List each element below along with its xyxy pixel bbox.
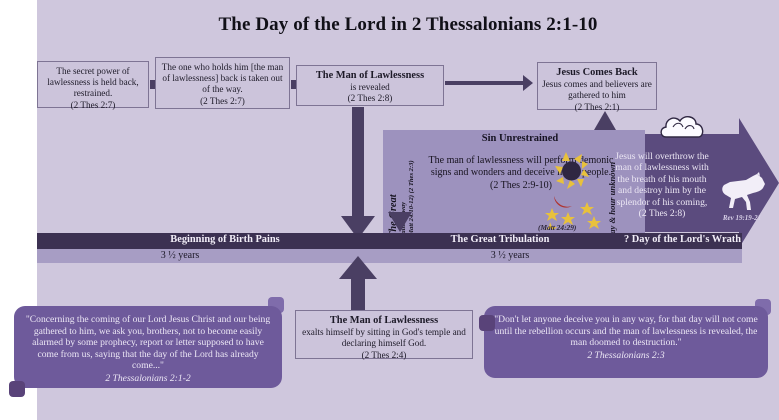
- timeline-duration-2: 3 ½ years: [430, 250, 590, 261]
- timeline-segment-day-of-lords-wrath: ? Day of the Lord's Wrath: [595, 234, 770, 245]
- celestial-ref: (Matt 24:29): [538, 223, 576, 232]
- flow-box-body: is revealed: [350, 82, 390, 92]
- quote-left: "Concerning the coming of our Lord Jesus…: [14, 306, 282, 388]
- quote-left-cite: 2 Thessalonians 2:1-2: [24, 373, 272, 385]
- arrow-right-icon-3: [445, 81, 524, 85]
- flow-box-ref: (2 Thes 2:7): [200, 96, 245, 106]
- arrow-down-icon-to-timeline: [352, 107, 364, 217]
- ribbon-curl-right-bottom: [479, 315, 495, 331]
- flow-box-jesus-comes-back: Jesus Comes Back Jesus comes and believe…: [537, 62, 657, 110]
- sin-body-ref: (2 Thes 2:9-10): [490, 180, 552, 191]
- quote-left-text: "Concerning the coming of our Lord Jesus…: [26, 314, 270, 371]
- celestial-signs-icons: [544, 150, 606, 230]
- flow-box-ref: (2 Thes 2:8): [348, 93, 393, 103]
- flow-box-title: Jesus Comes Back: [542, 67, 652, 78]
- ribbon-curl-left-bottom: [9, 381, 25, 397]
- right-panel-body: Jesus will overthrow the man of lawlessn…: [610, 151, 714, 219]
- bottom-box-body: exalts himself by sitting in God's templ…: [302, 327, 466, 348]
- flow-box-man-of-lawlessness-revealed: The Man of Lawlessness is revealed (2 Th…: [296, 65, 444, 106]
- quote-right-cite: 2 Thessalonians 2:3: [494, 350, 758, 362]
- white-horse-icon: [716, 172, 768, 216]
- flow-box-body: The one who holds him [the man of lawles…: [162, 62, 283, 94]
- flow-box-body: Jesus comes and believers are gathered t…: [542, 79, 652, 100]
- cloud-icon: [659, 113, 707, 141]
- quote-right-text: "Don't let anyone deceive you in any way…: [494, 314, 757, 348]
- sun-icon: [555, 152, 589, 189]
- horse-ref: Rev 19:19-21: [711, 214, 773, 222]
- arrow-up-icon-from-bottom-box: [351, 278, 365, 312]
- moon-icon: [554, 196, 572, 208]
- right-panel-ref: (2 Thes 2:8): [639, 208, 686, 219]
- flow-box-restrainer-removed: The one who holds him [the man of lawles…: [155, 57, 290, 109]
- flow-box-body: The secret power of lawlessness is held …: [47, 66, 138, 98]
- bottom-box-title: The Man of Lawlessness: [300, 315, 468, 326]
- quote-right: "Don't let anyone deceive you in any way…: [484, 306, 768, 378]
- triangle-down-icon-falling-away: [388, 212, 412, 232]
- right-panel-text: Jesus will overthrow the man of lawlessn…: [615, 151, 709, 208]
- sin-unrestrained-heading: Sin Unrestrained: [420, 133, 620, 144]
- flow-box-secret-power: The secret power of lawlessness is held …: [37, 61, 149, 108]
- timeline-segment-birth-pains: Beginning of Birth Pains: [90, 234, 360, 245]
- flow-box-title: The Man of Lawlessness: [301, 70, 439, 81]
- page-title: The Day of the Lord in 2 Thessalonians 2…: [37, 14, 779, 36]
- timeline-duration-1: 3 ½ years: [100, 250, 260, 261]
- bottom-box-ref: (2 Thes 2:4): [362, 350, 407, 360]
- bottom-box-man-of-lawlessness-exalts: The Man of Lawlessness exalts himself by…: [295, 310, 473, 359]
- timeline-segment-great-tribulation: The Great Tribulation: [395, 234, 605, 245]
- flow-box-ref: (2 Thes 2:7): [71, 100, 116, 110]
- diagram-root: The Day of the Lord in 2 Thessalonians 2…: [0, 0, 779, 420]
